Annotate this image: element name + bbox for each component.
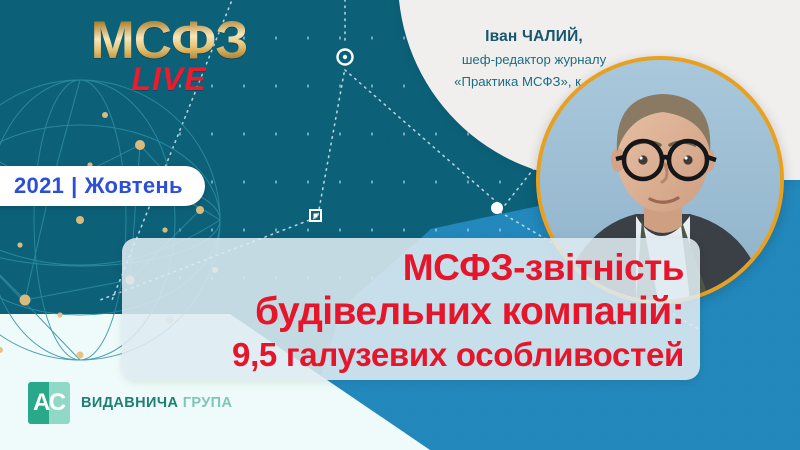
title-line-1: МСФЗ-звітність (403, 249, 684, 286)
main-title: МСФЗ-звітність будівельних компаній: 9,5… (122, 240, 700, 380)
publisher-name-bold: ВИДАВНИЧА (81, 395, 178, 411)
publisher-name-light: ГРУПА (183, 395, 233, 411)
publisher-mark-letters: АС (28, 382, 70, 424)
webinar-banner: МСФЗ LIVE 2021 | Жовтень Іван ЧАЛИЙ, шеф… (0, 0, 800, 450)
publisher-mark-icon: АС (28, 382, 70, 424)
publisher-logo: АС ВИДАВНИЧА ГРУПА (28, 382, 232, 424)
publisher-name: ВИДАВНИЧА ГРУПА (81, 395, 232, 411)
title-line-3: 9,5 галузевих особливостей (232, 338, 684, 371)
title-line-2: будівельних компаній: (255, 292, 684, 331)
date-separator: | (71, 173, 77, 199)
date-month: Жовтень (85, 173, 183, 199)
date-badge: 2021 | Жовтень (0, 166, 205, 206)
node-dot-icon (491, 202, 503, 214)
msfz-live-logo: МСФЗ LIVE (64, 14, 274, 94)
date-year: 2021 (14, 173, 64, 199)
msfz-wordmark: МСФЗ (64, 14, 274, 67)
speaker-name: Іван ЧАЛИЙ, (404, 26, 664, 48)
